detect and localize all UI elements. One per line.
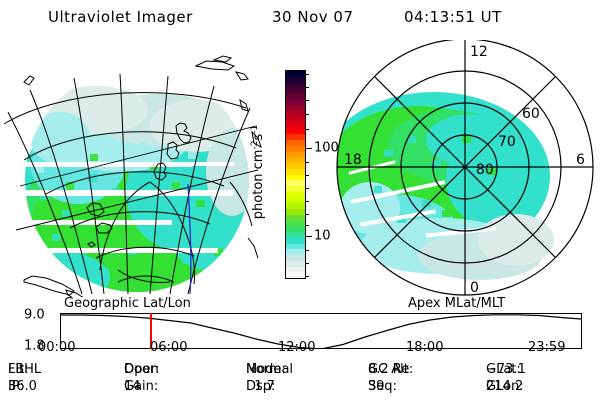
apex-mlt-dial-panel[interactable]: 12 18 6 0 60 70 80 <box>330 40 600 298</box>
mlat-label-60: 60 <box>522 106 540 122</box>
mlt-label-12: 12 <box>470 44 488 60</box>
mlt-label-18: 18 <box>344 152 362 168</box>
colorbar-title: photon cm-2s-1 <box>250 125 266 219</box>
strip-ytick-max: 9.0 <box>24 308 45 323</box>
header-bar: Ultraviolet Imager 30 Nov 07 04:13:51 UT <box>0 8 600 32</box>
mlt-panel-caption: Apex MLat/MLT <box>408 296 505 311</box>
strip-y-axis-label: GC Alt <box>0 308 2 349</box>
mlt-label-0: 0 <box>470 280 479 296</box>
strip-xtick-1: 06:00 <box>150 340 187 355</box>
status-dsp: Dsp: 1.7 <box>246 379 254 394</box>
instrument-title: Ultraviolet Imager <box>48 8 193 26</box>
colorbar-axis: 100 10 <box>305 70 331 279</box>
mlat-label-70: 70 <box>498 134 516 150</box>
status-readout: Flt: LBHL Door: Open Mode: Normal GC Alt… <box>0 362 600 400</box>
strip-xtick-2: 12:00 <box>278 340 315 355</box>
colorbar[interactable]: photon cm-2s-1 100 10 <box>262 60 332 290</box>
altitude-curve <box>60 315 581 349</box>
mlt-spokes <box>337 40 593 295</box>
mlt-label-6: 6 <box>576 152 585 168</box>
colorbar-tick-label-10: 10 <box>314 230 331 243</box>
strip-plot-svg <box>60 313 582 349</box>
geographic-map-svg <box>0 42 265 297</box>
observation-time: 04:13:51 UT <box>404 8 502 26</box>
geographic-map-panel[interactable] <box>0 42 265 297</box>
apex-mlt-dial-svg: 12 18 6 0 60 70 80 <box>330 40 600 298</box>
geo-panel-caption: Geographic Lat/Lon <box>64 296 191 311</box>
colorbar-band-35 <box>286 272 305 278</box>
strip-xtick-0: 00:00 <box>38 340 75 355</box>
strip-xtick-3: 18:00 <box>406 340 443 355</box>
aurora-oval-data <box>330 92 554 280</box>
colorbar-gradient <box>285 70 306 279</box>
strip-xtick-4: 23:59 <box>528 340 565 355</box>
observation-date: 30 Nov 07 <box>272 8 354 26</box>
mlat-label-80: 80 <box>476 162 494 178</box>
orbit-altitude-strip[interactable]: Geographic Lat/Lon Apex MLat/MLT GC Alt … <box>0 296 600 358</box>
